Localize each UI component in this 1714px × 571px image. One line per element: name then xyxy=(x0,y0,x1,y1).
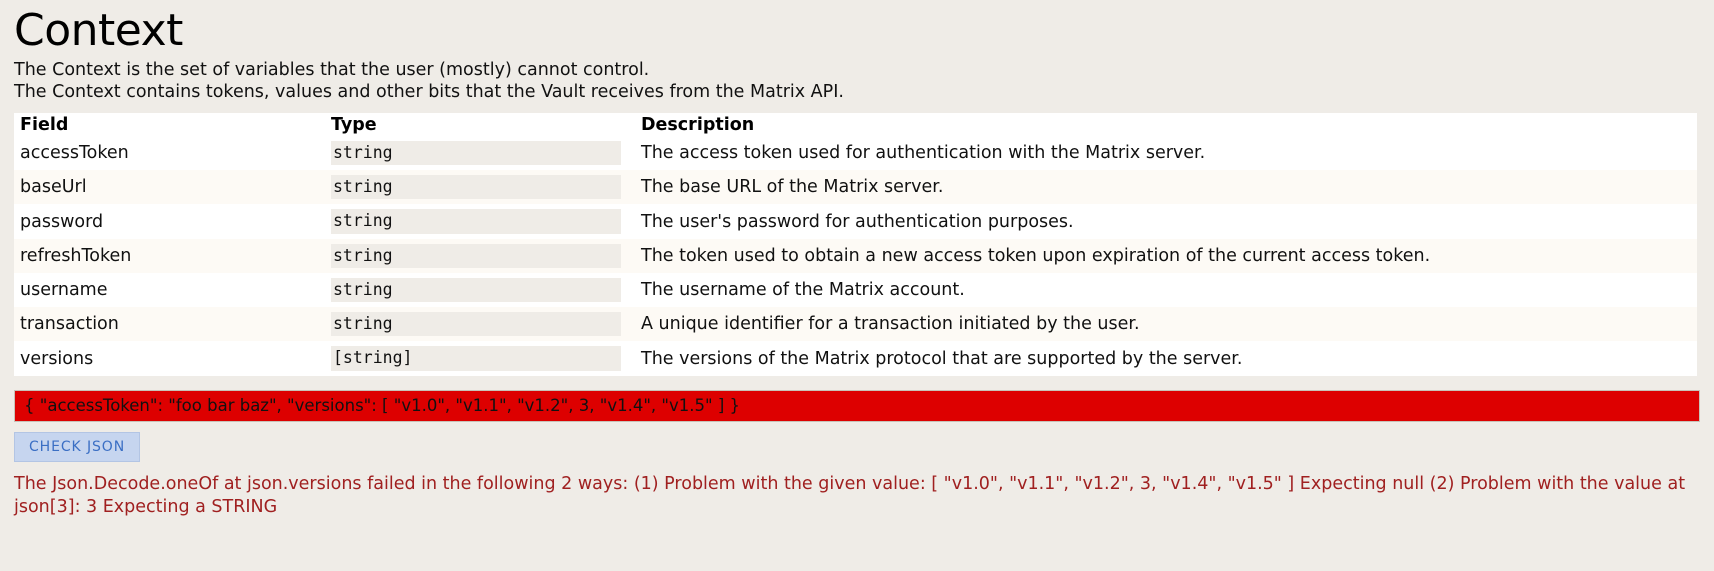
column-header-type: Type xyxy=(325,113,635,136)
button-row: Check JSON xyxy=(14,432,1700,462)
page-title: Context xyxy=(14,0,1700,60)
column-header-field: Field xyxy=(14,113,325,136)
type-code-chip: string xyxy=(331,141,621,165)
cell-field: refreshToken xyxy=(14,239,325,273)
table-head: Field Type Description xyxy=(14,113,1697,136)
cell-description: The token used to obtain a new access to… xyxy=(635,239,1697,273)
table-row: username string The username of the Matr… xyxy=(14,273,1697,307)
cell-field: username xyxy=(14,273,325,307)
json-input[interactable]: { "accessToken": "foo bar baz", "version… xyxy=(14,390,1700,422)
intro-line-1: The Context is the set of variables that… xyxy=(14,60,1700,81)
table-row: baseUrl string The base URL of the Matri… xyxy=(14,170,1697,204)
cell-description: The access token used for authentication… xyxy=(635,136,1697,170)
check-json-button[interactable]: Check JSON xyxy=(14,432,140,462)
table-row: accessToken string The access token used… xyxy=(14,136,1697,170)
cell-type: string xyxy=(325,204,635,238)
json-error-message: The Json.Decode.oneOf at json.versions f… xyxy=(14,473,1700,519)
type-code-chip: string xyxy=(331,209,621,233)
context-page: Context The Context is the set of variab… xyxy=(0,0,1714,519)
table-row: versions [string] The versions of the Ma… xyxy=(14,341,1697,375)
intro-paragraph: The Context is the set of variables that… xyxy=(14,60,1700,109)
table-row: password string The user's password for … xyxy=(14,204,1697,238)
cell-description: A unique identifier for a transaction in… xyxy=(635,307,1697,341)
cell-field: password xyxy=(14,204,325,238)
cell-field: transaction xyxy=(14,307,325,341)
table-body: accessToken string The access token used… xyxy=(14,136,1697,376)
table-row: transaction string A unique identifier f… xyxy=(14,307,1697,341)
cell-description: The username of the Matrix account. xyxy=(635,273,1697,307)
context-fields-table: Field Type Description accessToken strin… xyxy=(14,113,1697,376)
type-code-chip: string xyxy=(331,312,621,336)
cell-description: The base URL of the Matrix server. xyxy=(635,170,1697,204)
column-header-description: Description xyxy=(635,113,1697,136)
cell-field: versions xyxy=(14,341,325,375)
type-code-chip: [string] xyxy=(331,346,621,370)
cell-type: string xyxy=(325,136,635,170)
table-row: refreshToken string The token used to ob… xyxy=(14,239,1697,273)
cell-type: string xyxy=(325,170,635,204)
cell-type: [string] xyxy=(325,341,635,375)
type-code-chip: string xyxy=(331,278,621,302)
cell-type: string xyxy=(325,307,635,341)
cell-description: The user's password for authentication p… xyxy=(635,204,1697,238)
cell-description: The versions of the Matrix protocol that… xyxy=(635,341,1697,375)
cell-type: string xyxy=(325,239,635,273)
cell-field: baseUrl xyxy=(14,170,325,204)
cell-field: accessToken xyxy=(14,136,325,170)
table-header-row: Field Type Description xyxy=(14,113,1697,136)
intro-line-2: The Context contains tokens, values and … xyxy=(14,82,1700,103)
type-code-chip: string xyxy=(331,175,621,199)
type-code-chip: string xyxy=(331,244,621,268)
cell-type: string xyxy=(325,273,635,307)
